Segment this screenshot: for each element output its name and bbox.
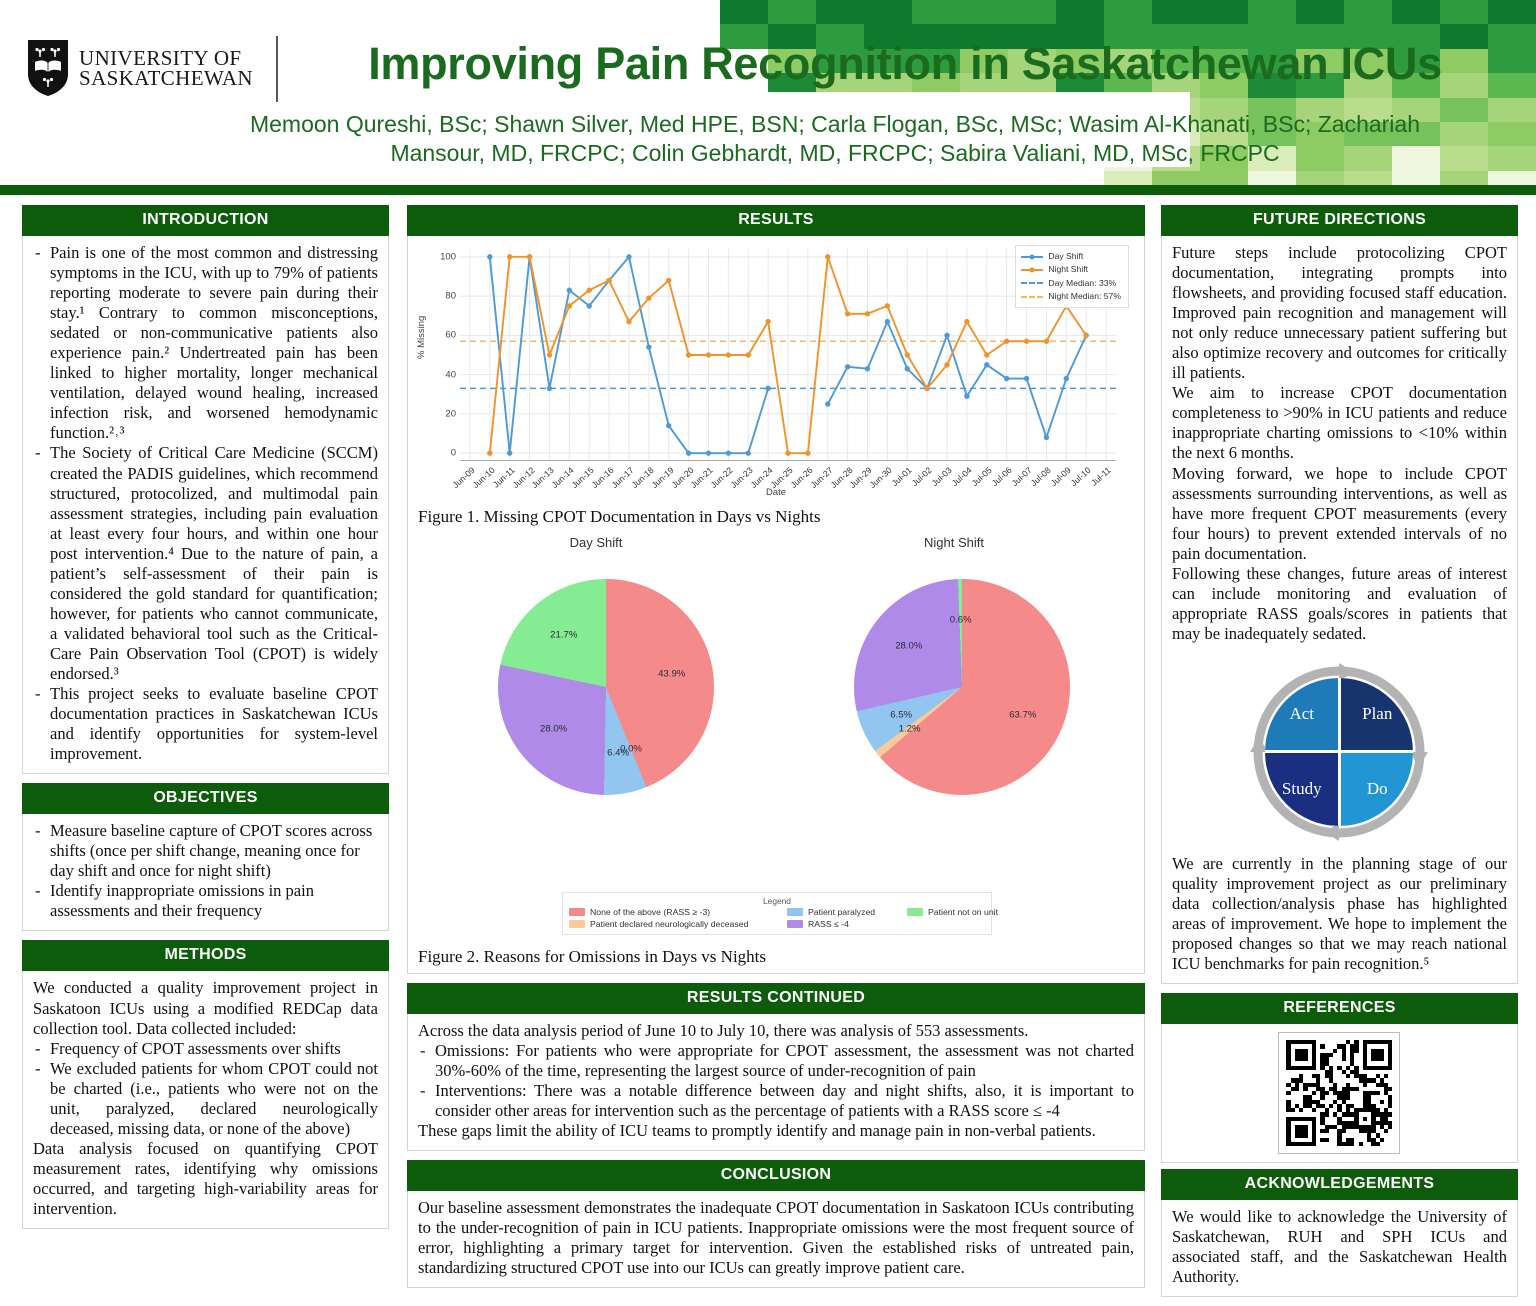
line-chart-x-tick: Jul-08: [1029, 465, 1053, 488]
author-list: Memoon Qureshi, BSc; Shawn Silver, Med H…: [220, 110, 1450, 169]
legend-color-chip-icon: [569, 908, 585, 916]
line-chart-y-tick: 0: [451, 448, 456, 459]
pie-slice-label: 6.5%: [890, 709, 912, 720]
poster-body: INTRODUCTION Pain is one of the most com…: [0, 205, 1536, 1306]
line-chart-x-tick: Jul-02: [910, 465, 934, 488]
line-chart-x-tick: Jul-01: [890, 465, 914, 488]
future-directions-p3: Moving forward, we hope to include CPOT …: [1172, 464, 1507, 564]
introduction-list: Pain is one of the most common and distr…: [33, 243, 378, 764]
pie-legend-item: Patient declared neurologically deceased: [569, 919, 787, 929]
line-chart-y-tick: 40: [445, 369, 456, 380]
pie-legend-item: Patient not on unit: [907, 907, 999, 917]
legend-label: Day Median: 33%: [1048, 277, 1116, 290]
legend-label: Night Shift: [1048, 263, 1088, 276]
pie-legend-label: Patient declared neurologically deceased: [590, 919, 748, 929]
introduction-heading: INTRODUCTION: [22, 205, 389, 236]
spacer: [22, 774, 389, 783]
methods-intro: We conducted a quality improvement proje…: [33, 978, 378, 1038]
section-future-directions: FUTURE DIRECTIONS Future steps include p…: [1161, 205, 1518, 984]
section-acknowledgements: ACKNOWLEDGEMENTS We would like to acknow…: [1161, 1169, 1518, 1297]
line-chart-x-tick: Jul-04: [949, 465, 973, 488]
legend-swatch-icon: [1021, 296, 1043, 298]
pie-legend-label: Patient not on unit: [928, 907, 998, 917]
pie-chart-day-title: Day Shift: [486, 535, 706, 550]
shield-icon: [26, 38, 70, 98]
section-conclusion: CONCLUSION Our baseline assessment demon…: [407, 1160, 1145, 1288]
references-body: [1161, 1024, 1518, 1163]
future-directions-p2: We aim to increase CPOT documentation co…: [1172, 383, 1507, 463]
logo-line-2: SASKATCHEWAN: [79, 68, 253, 88]
objectives-list: Measure baseline capture of CPOT scores …: [33, 821, 378, 921]
qr-code-icon[interactable]: [1278, 1032, 1400, 1154]
pie-chart-legend: Legend None of the above (RASS ≥ -3)Pati…: [562, 892, 992, 935]
results-continued-intro: Across the data analysis period of June …: [418, 1021, 1134, 1041]
header-divider: [276, 36, 278, 102]
objectives-heading: OBJECTIVES: [22, 783, 389, 814]
legend-label: Night Median: 57%: [1048, 290, 1121, 303]
header-bottom-rule: [0, 185, 1536, 195]
results-continued-list: Omissions: For patients who were appropr…: [418, 1041, 1134, 1121]
acknowledgements-body: We would like to acknowledge the Univers…: [1161, 1200, 1518, 1297]
results-continued-outro: These gaps limit the ability of ICU team…: [418, 1121, 1134, 1141]
introduction-body: Pain is one of the most common and distr…: [22, 236, 389, 774]
legend-swatch-icon: [1021, 282, 1043, 284]
legend-color-chip-icon: [569, 920, 585, 928]
pie-legend-item: RASS ≤ -4: [787, 919, 907, 929]
spacer: [407, 1151, 1145, 1160]
pie-charts-container: Day Shift Night Shift 43.9%0.0%6.4%28.0%…: [414, 531, 1138, 939]
spacer: [407, 974, 1145, 983]
pie-legend-label: Patient paralyzed: [808, 907, 875, 917]
future-directions-heading: FUTURE DIRECTIONS: [1161, 205, 1518, 236]
figure-1-caption: Figure 1. Missing CPOT Documentation in …: [414, 499, 1138, 531]
methods-outro: Data analysis focused on quantifying CPO…: [33, 1139, 378, 1219]
pie-slice-label: 0.6%: [950, 615, 972, 626]
pie-chart-night-shift: [854, 579, 1070, 795]
section-methods: METHODS We conducted a quality improveme…: [22, 940, 389, 1229]
pdsa-quadrants: Act Plan Study Do: [1265, 678, 1413, 826]
results-continued-body: Across the data analysis period of June …: [407, 1014, 1145, 1151]
legend-label: Day Shift: [1048, 250, 1083, 263]
pie-legend-items: None of the above (RASS ≥ -3)Patient par…: [569, 907, 985, 929]
line-chart-y-tick: 80: [445, 291, 456, 302]
pie-slice-label: 21.7%: [550, 630, 577, 641]
page-title: Improving Pain Recognition in Saskatchew…: [280, 38, 1530, 90]
list-item: The Society of Critical Care Medicine (S…: [33, 443, 378, 684]
pie-legend-item: Patient paralyzed: [787, 907, 907, 917]
line-chart-missing-cpot: % Missing 020406080100Jun-09Jun-10Jun-11…: [414, 241, 1138, 499]
line-chart-legend-item: Day Median: 33%: [1021, 277, 1121, 290]
results-continued-heading: RESULTS CONTINUED: [407, 983, 1145, 1014]
acknowledgements-text: We would like to acknowledge the Univers…: [1172, 1207, 1507, 1287]
conclusion-body: Our baseline assessment demonstrates the…: [407, 1191, 1145, 1288]
pie-slice-label: 6.4%: [607, 747, 629, 758]
results-heading: RESULTS: [407, 205, 1145, 236]
list-item: Identify inappropriate omissions in pain…: [33, 881, 378, 921]
pie-slice-label: 1.2%: [899, 723, 921, 734]
future-directions-p4: Following these changes, future areas of…: [1172, 564, 1507, 644]
list-item: Pain is one of the most common and distr…: [33, 243, 378, 443]
list-item: Measure baseline capture of CPOT scores …: [33, 821, 378, 881]
section-results: RESULTS % Missing 020406080100Jun-09Jun-…: [407, 205, 1145, 974]
line-chart-x-tick: Jul-10: [1069, 465, 1093, 488]
list-item: We excluded patients for whom CPOT could…: [33, 1059, 378, 1139]
line-chart-x-tick: Jul-09: [1049, 465, 1073, 488]
line-chart-y-tick: 100: [440, 251, 456, 262]
pdsa-cycle-diagram: Act Plan Study Do: [1172, 654, 1507, 850]
left-column: INTRODUCTION Pain is one of the most com…: [22, 205, 389, 1298]
pie-slice-label: 43.9%: [658, 669, 685, 680]
pie-slice-label: 63.7%: [1009, 709, 1036, 720]
future-directions-body: Future steps include protocolizing CPOT …: [1161, 236, 1518, 984]
pie-chart-night-title: Night Shift: [844, 535, 1064, 550]
legend-color-chip-icon: [787, 920, 803, 928]
list-item: This project seeks to evaluate baseline …: [33, 684, 378, 764]
pie-chart-day-shift: [498, 579, 714, 795]
right-column: FUTURE DIRECTIONS Future steps include p…: [1161, 205, 1518, 1298]
figure-2-caption: Figure 2. Reasons for Omissions in Days …: [414, 939, 1138, 971]
results-body: % Missing 020406080100Jun-09Jun-10Jun-11…: [407, 236, 1145, 974]
pie-legend-label: RASS ≤ -4: [808, 919, 849, 929]
pie-legend-title: Legend: [569, 896, 985, 906]
pdsa-wheel: Act Plan Study Do: [1250, 663, 1428, 841]
list-item: Omissions: For patients who were appropr…: [418, 1041, 1134, 1081]
future-directions-closing: We are currently in the planning stage o…: [1172, 854, 1507, 974]
methods-heading: METHODS: [22, 940, 389, 971]
section-references: REFERENCES: [1161, 993, 1518, 1163]
logo-line-1: UNIVERSITY OF: [79, 48, 253, 68]
objectives-body: Measure baseline capture of CPOT scores …: [22, 814, 389, 931]
line-chart-x-axis-label: Date: [414, 487, 1138, 498]
line-chart-legend-item: Day Shift: [1021, 250, 1121, 263]
conclusion-heading: CONCLUSION: [407, 1160, 1145, 1191]
university-logo: UNIVERSITY OF SASKATCHEWAN: [26, 38, 253, 98]
pie-slice-label: 28.0%: [895, 641, 922, 652]
line-chart-x-tick: Jul-05: [969, 465, 993, 488]
methods-list: Frequency of CPOT assessments over shift…: [33, 1039, 378, 1139]
section-objectives: OBJECTIVES Measure baseline capture of C…: [22, 783, 389, 931]
line-chart-legend-item: Night Median: 57%: [1021, 290, 1121, 303]
spacer: [22, 931, 389, 940]
acknowledgements-heading: ACKNOWLEDGEMENTS: [1161, 1169, 1518, 1200]
references-heading: REFERENCES: [1161, 993, 1518, 1024]
line-chart-x-tick: Jul-07: [1009, 465, 1033, 488]
line-chart-x-tick: Jul-06: [989, 465, 1013, 488]
conclusion-text: Our baseline assessment demonstrates the…: [418, 1198, 1134, 1278]
line-chart-legend-item: Night Shift: [1021, 263, 1121, 276]
pie-legend-label: None of the above (RASS ≥ -3): [590, 907, 710, 917]
future-directions-p1: Future steps include protocolizing CPOT …: [1172, 243, 1507, 383]
university-wordmark: UNIVERSITY OF SASKATCHEWAN: [79, 48, 253, 89]
line-chart-legend: Day ShiftNight ShiftDay Median: 33%Night…: [1015, 245, 1129, 308]
list-item: Interventions: There was a notable diffe…: [418, 1081, 1134, 1121]
center-column: RESULTS % Missing 020406080100Jun-09Jun-…: [407, 205, 1145, 1298]
section-results-continued: RESULTS CONTINUED Across the data analys…: [407, 983, 1145, 1151]
legend-color-chip-icon: [907, 908, 923, 916]
legend-swatch-icon: [1021, 256, 1043, 258]
legend-swatch-icon: [1021, 269, 1043, 271]
qr-wrapper: [1162, 1024, 1517, 1162]
poster-header: UNIVERSITY OF SASKATCHEWAN Improving Pai…: [0, 0, 1536, 195]
line-chart-y-tick: 20: [445, 408, 456, 419]
pie-slice-label: 28.0%: [540, 723, 567, 734]
section-introduction: INTRODUCTION Pain is one of the most com…: [22, 205, 389, 774]
qr-code-matrix: [1286, 1040, 1392, 1146]
line-chart-x-tick: Jul-03: [930, 465, 954, 488]
line-chart-y-axis-label: % Missing: [416, 316, 427, 359]
pie-legend-item: None of the above (RASS ≥ -3): [569, 907, 787, 917]
list-item: Frequency of CPOT assessments over shift…: [33, 1039, 378, 1059]
spacer: [1161, 984, 1518, 993]
line-chart-y-tick: 60: [445, 330, 456, 341]
methods-body: We conducted a quality improvement proje…: [22, 971, 389, 1229]
line-chart-x-tick: Jul-11: [1089, 465, 1113, 488]
legend-color-chip-icon: [787, 908, 803, 916]
